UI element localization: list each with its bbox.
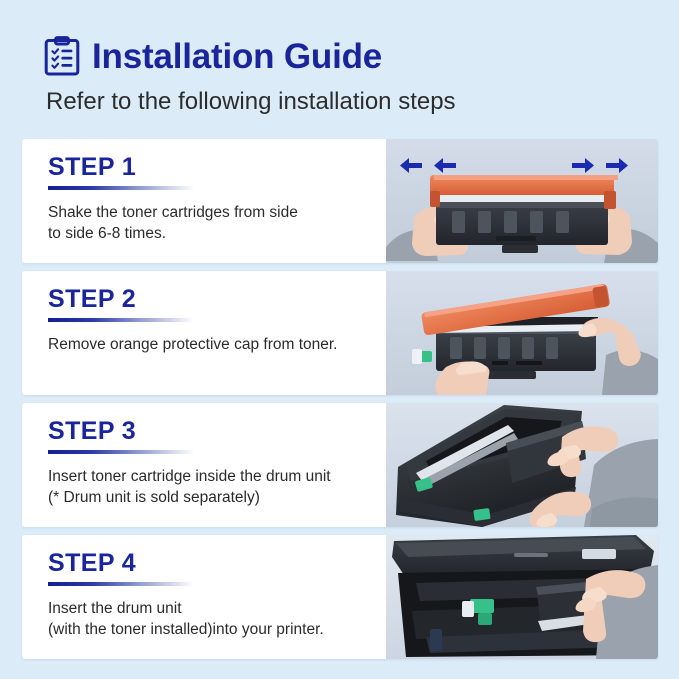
page-title: Installation Guide	[92, 39, 382, 74]
remove-orange-cap-photo	[386, 271, 658, 395]
step-description-4: Insert the drum unit (with the toner ins…	[48, 598, 386, 641]
clipboard-checklist-icon	[44, 36, 80, 76]
step-text-1: STEP 1 Shake the toner cartridges from s…	[22, 139, 386, 263]
step-rule-1	[48, 186, 194, 190]
step-label-2: STEP 2	[48, 287, 386, 312]
title-row: Installation Guide	[44, 36, 679, 76]
step-rule-3	[48, 450, 194, 454]
step-label-4: STEP 4	[48, 551, 386, 576]
insert-drum-into-printer-photo	[386, 535, 658, 659]
step-text-4: STEP 4 Insert the drum unit (with the to…	[22, 535, 386, 659]
page-header: Installation Guide Refer to the followin…	[0, 0, 679, 115]
step-card-1: STEP 1 Shake the toner cartridges from s…	[22, 139, 658, 263]
step-label-3: STEP 3	[48, 419, 386, 444]
step-card-2: STEP 2 Remove orange protective cap from…	[22, 271, 658, 395]
steps-list: STEP 1 Shake the toner cartridges from s…	[22, 139, 658, 659]
step-rule-2	[48, 318, 194, 322]
step-label-1: STEP 1	[48, 155, 386, 180]
step-rule-4	[48, 582, 194, 586]
step-description-1: Shake the toner cartridges from side to …	[48, 202, 386, 245]
step-text-3: STEP 3 Insert toner cartridge inside the…	[22, 403, 386, 527]
step-text-2: STEP 2 Remove orange protective cap from…	[22, 271, 386, 395]
installation-guide-page: Installation Guide Refer to the followin…	[0, 0, 679, 679]
step-description-3: Insert toner cartridge inside the drum u…	[48, 466, 386, 509]
toner-shake-photo	[386, 139, 658, 263]
step-card-3: STEP 3 Insert toner cartridge inside the…	[22, 403, 658, 527]
insert-toner-into-drum-photo	[386, 403, 658, 527]
step-description-2: Remove orange protective cap from toner.	[48, 334, 386, 355]
step-card-4: STEP 4 Insert the drum unit (with the to…	[22, 535, 658, 659]
page-subtitle: Refer to the following installation step…	[46, 89, 679, 115]
